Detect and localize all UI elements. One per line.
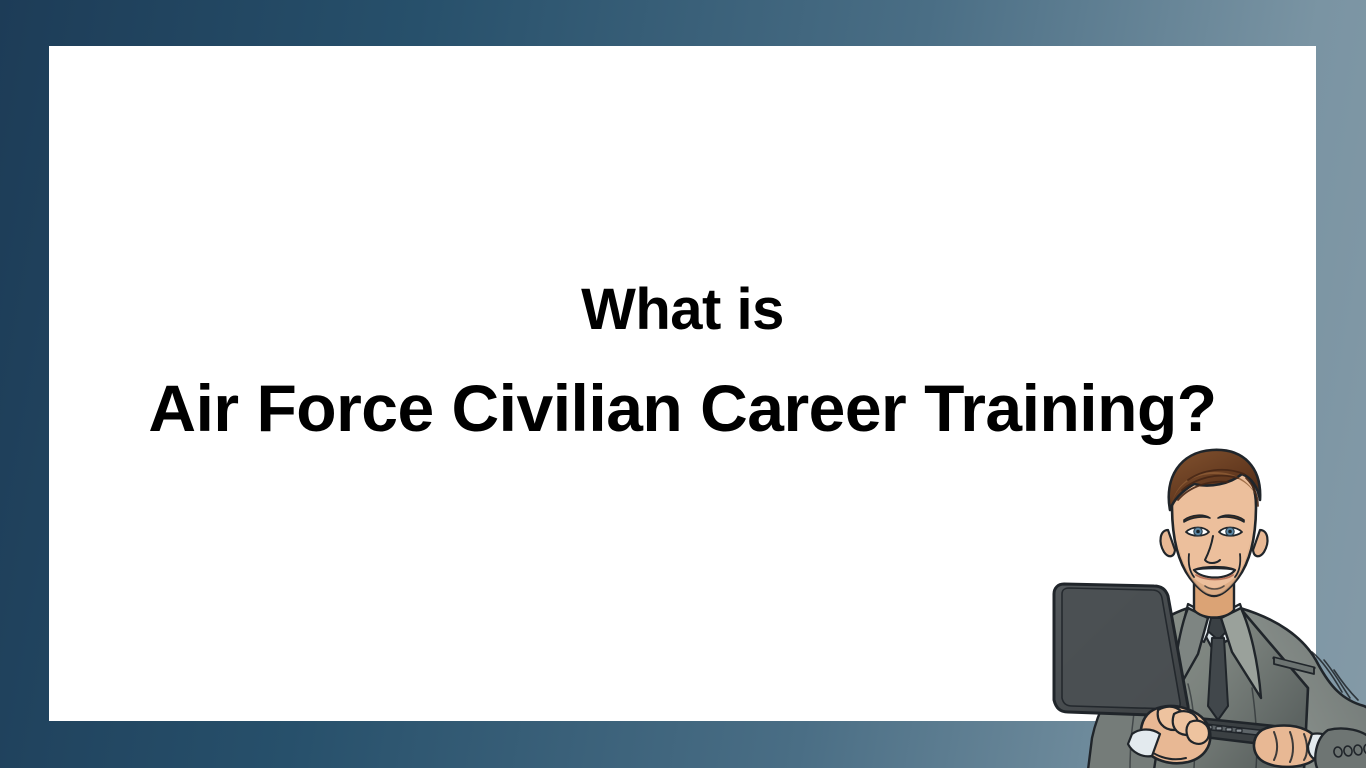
title-block: What is Air Force Civilian Career Traini…: [49, 46, 1316, 441]
page-title-line-1: What is: [49, 281, 1316, 339]
page-title-line-2: Air Force Civilian Career Training?: [49, 375, 1316, 441]
content-card: What is Air Force Civilian Career Traini…: [49, 46, 1316, 721]
slide-canvas: What is Air Force Civilian Career Traini…: [0, 0, 1366, 768]
